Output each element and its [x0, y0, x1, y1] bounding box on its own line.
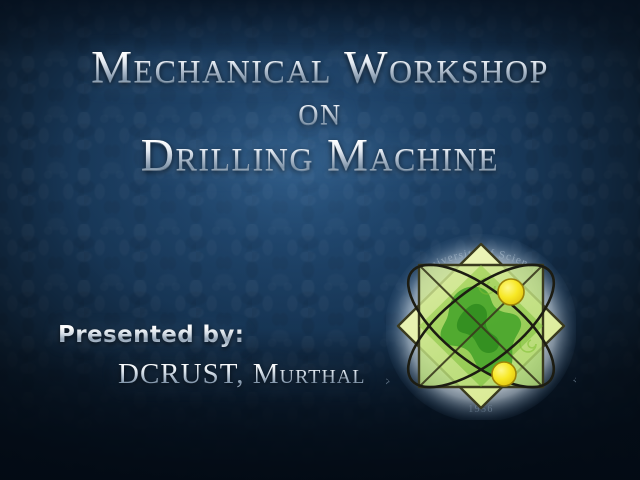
university-logo: University of Science Deenbandhu Chhotu …	[386, 232, 576, 420]
title-line-2: on	[0, 91, 640, 132]
logo-dot-lower	[492, 362, 516, 386]
presented-by-label: Presented by:	[58, 322, 244, 348]
title-line-3: Drilling Machine	[0, 132, 640, 179]
logo-dot-upper	[498, 279, 524, 305]
title-slide: Mechanical Workshop on Drilling Machine …	[0, 0, 640, 480]
slide-title: Mechanical Workshop on Drilling Machine	[0, 44, 640, 179]
title-line-1: Mechanical Workshop	[0, 44, 640, 91]
presenter-name: DCRUST, Murthal	[118, 358, 365, 391]
